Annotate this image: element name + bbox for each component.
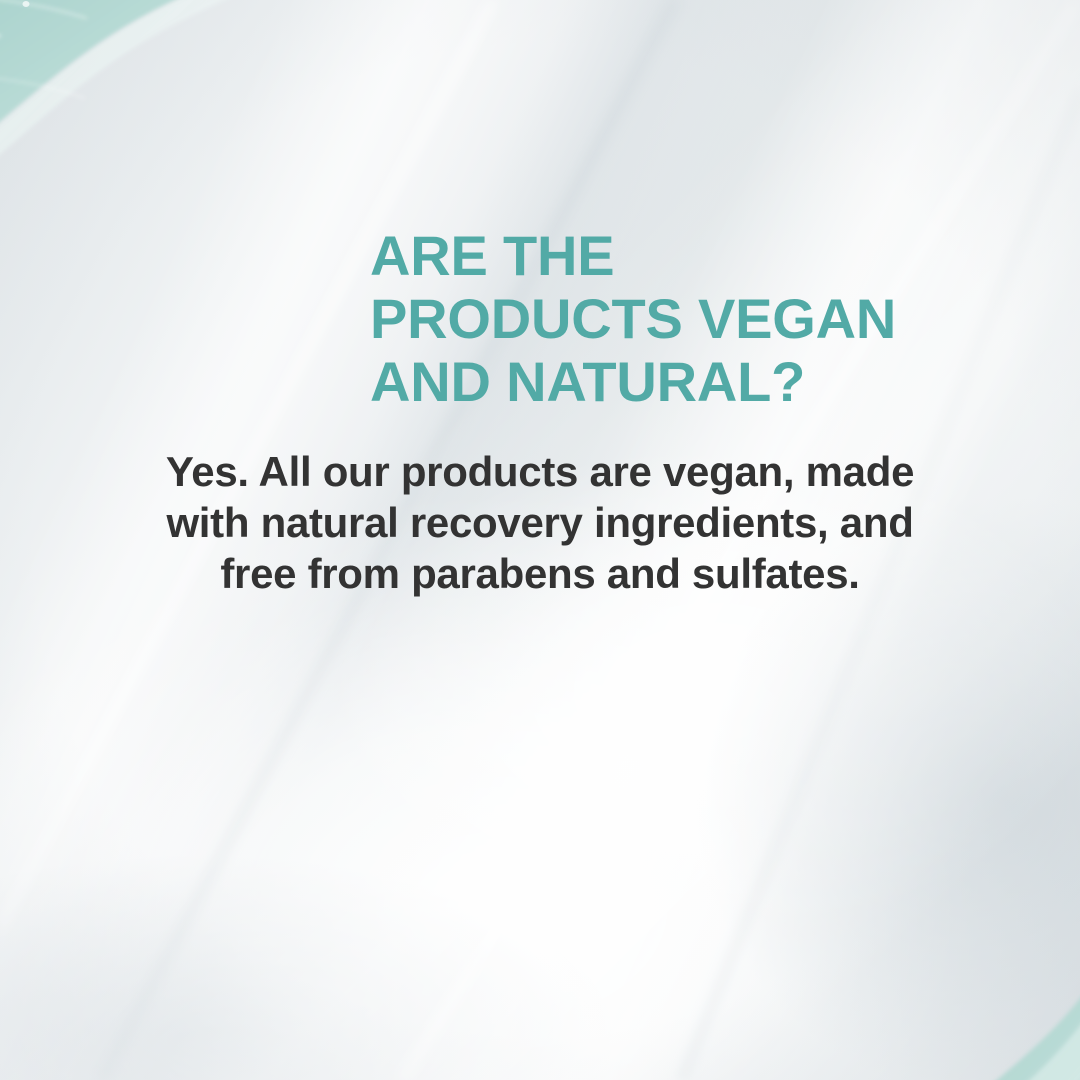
text-content: ARE THE PRODUCTS VEGAN AND NATURAL? Yes.… (0, 0, 1080, 1080)
faq-answer-text: Yes. All our products are vegan, made wi… (100, 446, 980, 599)
faq-question-heading: ARE THE PRODUCTS VEGAN AND NATURAL? (370, 224, 1010, 413)
faq-card: ARE THE PRODUCTS VEGAN AND NATURAL? Yes.… (0, 0, 1080, 1080)
